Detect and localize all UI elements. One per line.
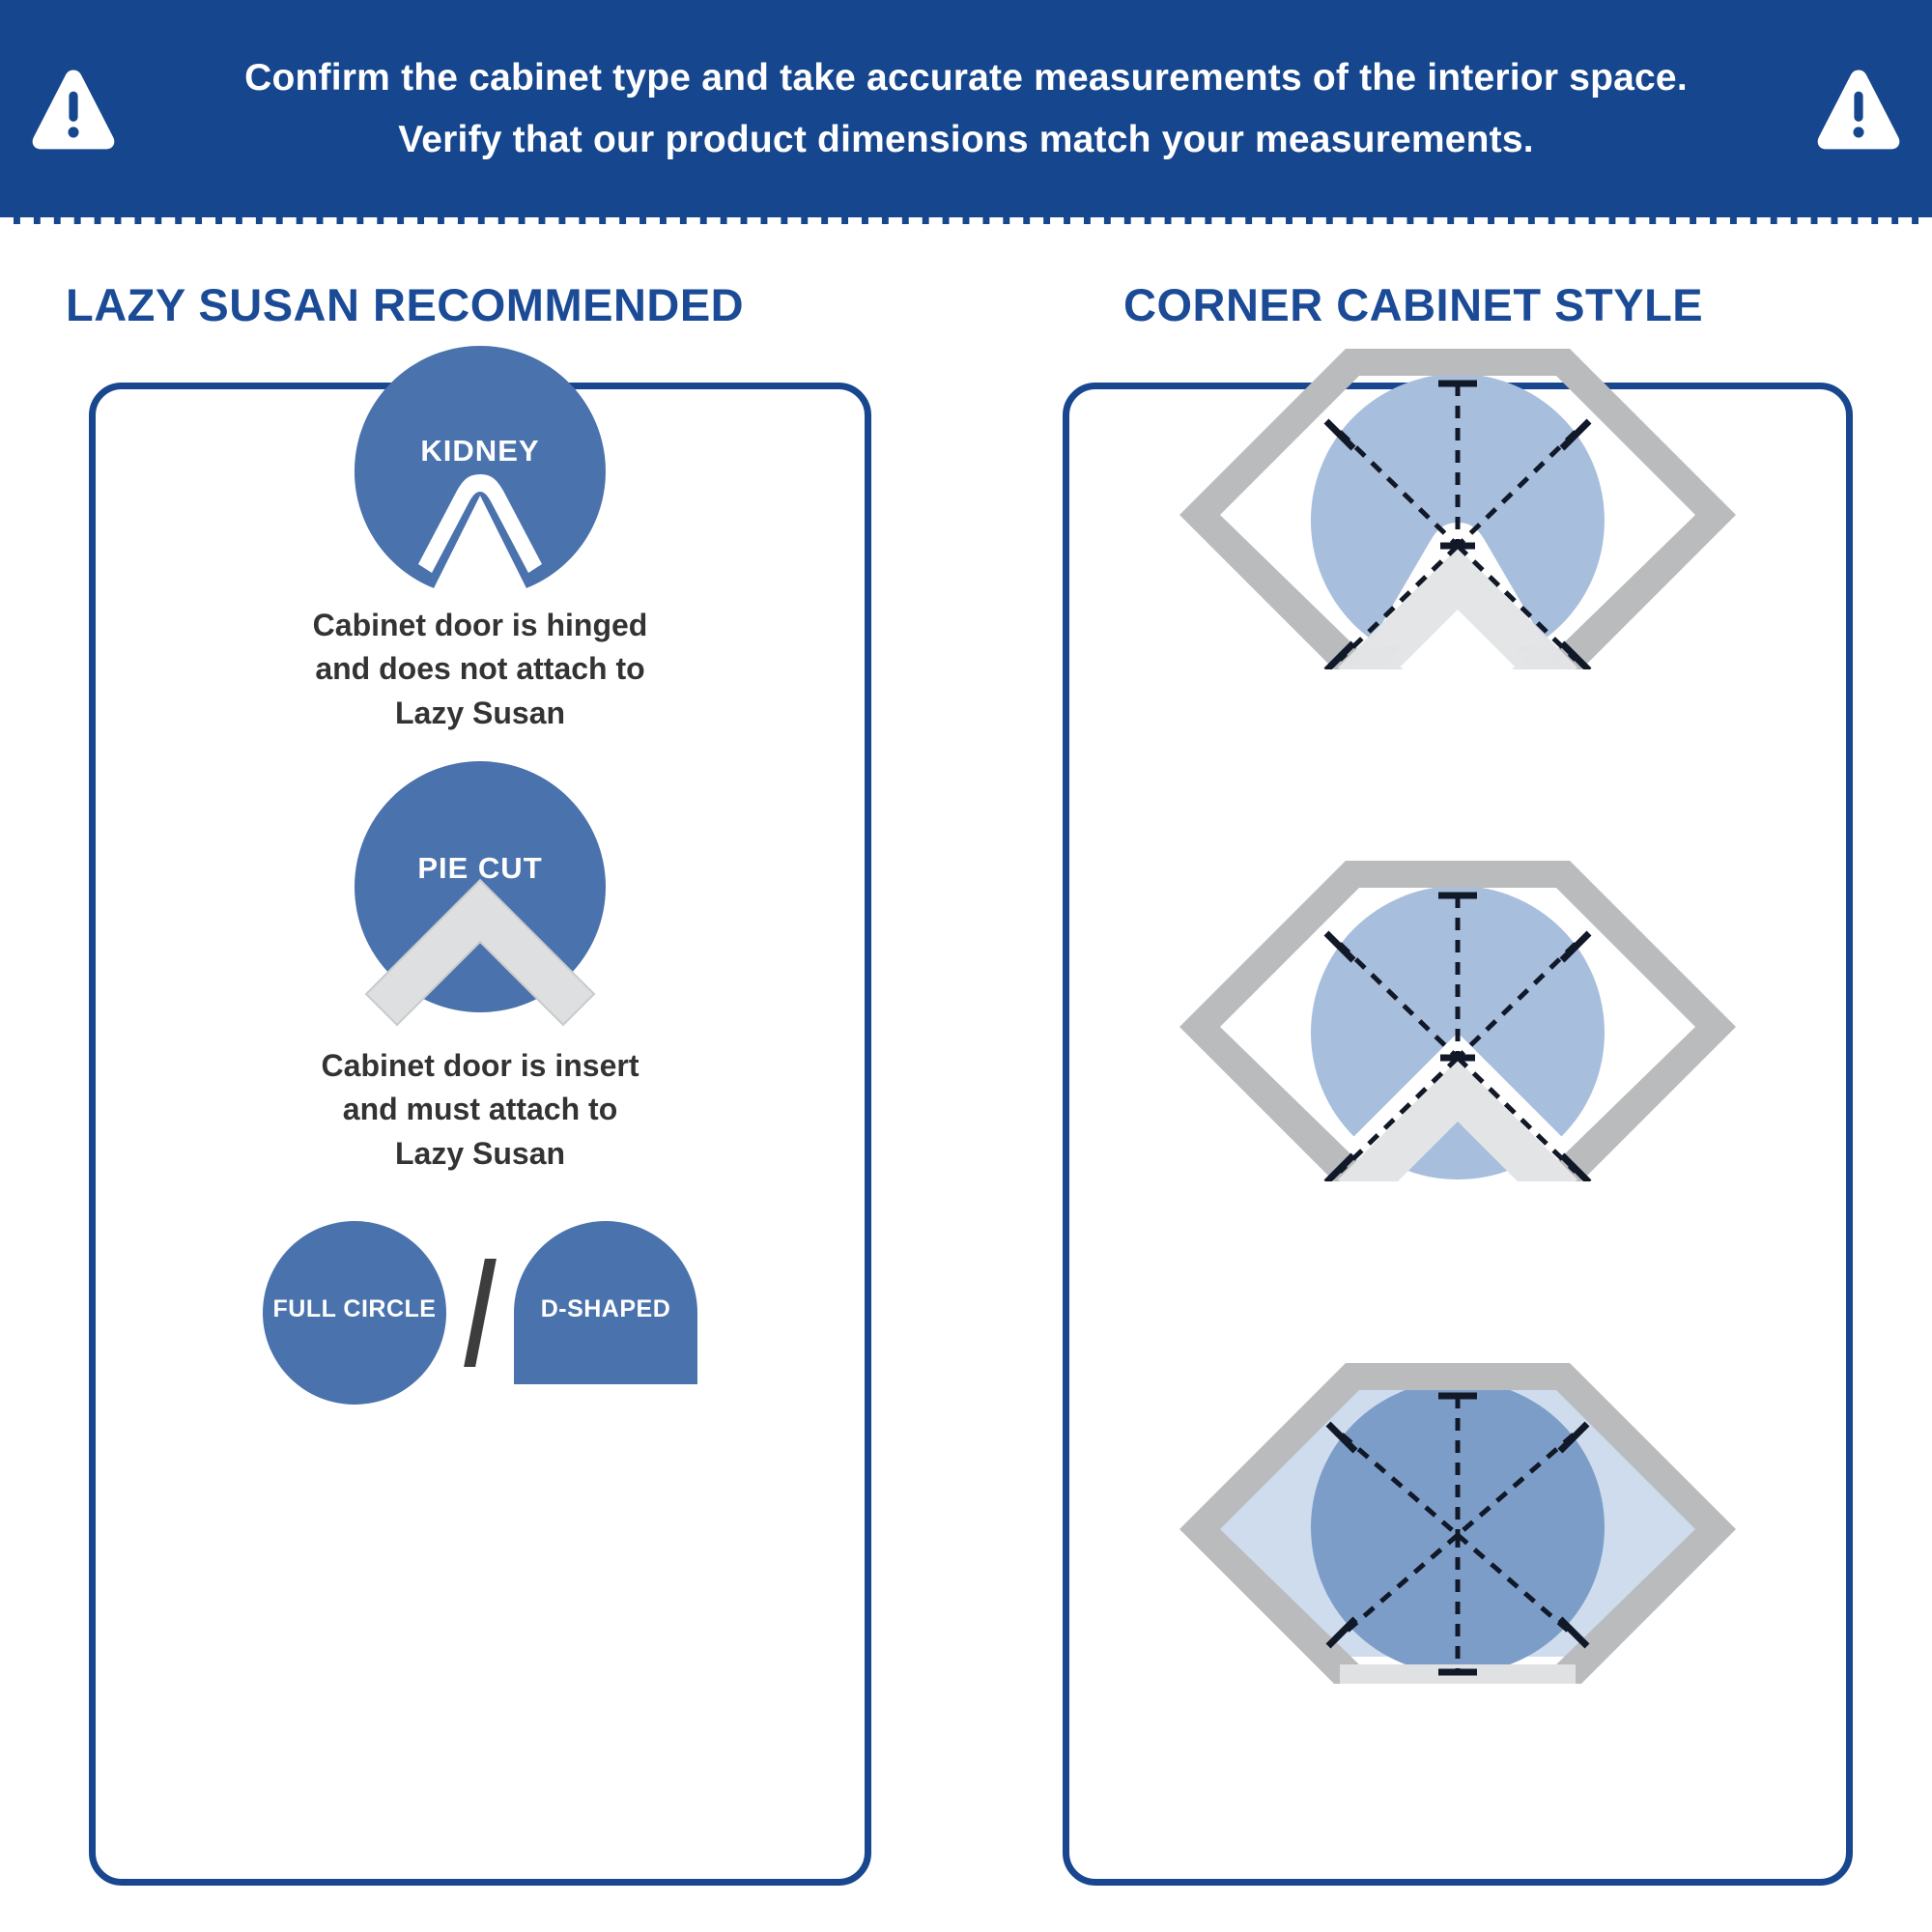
pie-cut-caption-line-2: and must attach to [96, 1088, 865, 1131]
d-shaped-label: D-SHAPED [513, 1295, 698, 1323]
warning-triangle-icon-right [1814, 65, 1903, 154]
banner-message: Confirm the cabinet type and take accura… [145, 47, 1787, 169]
section-title-corner-cabinet: CORNER CABINET STYLE [1123, 278, 1703, 331]
corner-diagram-full-circle-svg [1168, 1355, 1747, 1684]
lazy-susan-card: KIDNEY Cabinet door is hinged and does n… [89, 383, 871, 1886]
separator-slash [464, 1259, 497, 1367]
kidney-caption-line-2: and does not attach to [96, 647, 865, 691]
kidney-caption-line-3: Lazy Susan [96, 692, 865, 735]
banner-line-1: Confirm the cabinet type and take accura… [145, 47, 1787, 108]
pie-cut-caption-line-3: Lazy Susan [96, 1132, 865, 1176]
pie-cut-caption-line-1: Cabinet door is insert [96, 1044, 865, 1088]
kidney-shape-block: KIDNEY [96, 341, 865, 602]
kidney-label: KIDNEY [96, 434, 865, 469]
corner-diagram-pie-cut-svg [1168, 853, 1747, 1181]
full-circle-label: FULL CIRCLE [262, 1295, 447, 1323]
warning-banner: Confirm the cabinet type and take accura… [0, 0, 1932, 224]
warning-triangle-icon-left [29, 65, 118, 154]
kidney-shape-icon [335, 341, 625, 602]
corner-diagram-pie-cut [1168, 853, 1747, 1186]
full-circle-shape-block: FULL CIRCLE [262, 1220, 447, 1406]
kidney-caption: Cabinet door is hinged and does not atta… [96, 604, 865, 735]
infographic-page: Confirm the cabinet type and take accura… [0, 0, 1932, 1932]
corner-cabinet-card [1063, 383, 1853, 1886]
pie-cut-label: PIE CUT [96, 851, 865, 886]
corner-diagram-full-circle [1168, 1355, 1747, 1689]
section-title-lazy-susan: LAZY SUSAN RECOMMENDED [66, 278, 744, 331]
pie-cut-caption: Cabinet door is insert and must attach t… [96, 1044, 865, 1176]
banner-line-2: Verify that our product dimensions match… [145, 109, 1787, 170]
pie-cut-shape-icon [335, 756, 625, 1037]
corner-diagram-kidney-svg [1168, 341, 1747, 669]
corner-diagram-kidney [1168, 341, 1747, 674]
circle-dshape-row: FULL CIRCLE D-SHAPED [96, 1220, 865, 1406]
kidney-caption-line-1: Cabinet door is hinged [96, 604, 865, 647]
pie-cut-shape-block: PIE CUT [96, 756, 865, 1037]
d-shaped-shape-block: D-SHAPED [513, 1220, 698, 1406]
